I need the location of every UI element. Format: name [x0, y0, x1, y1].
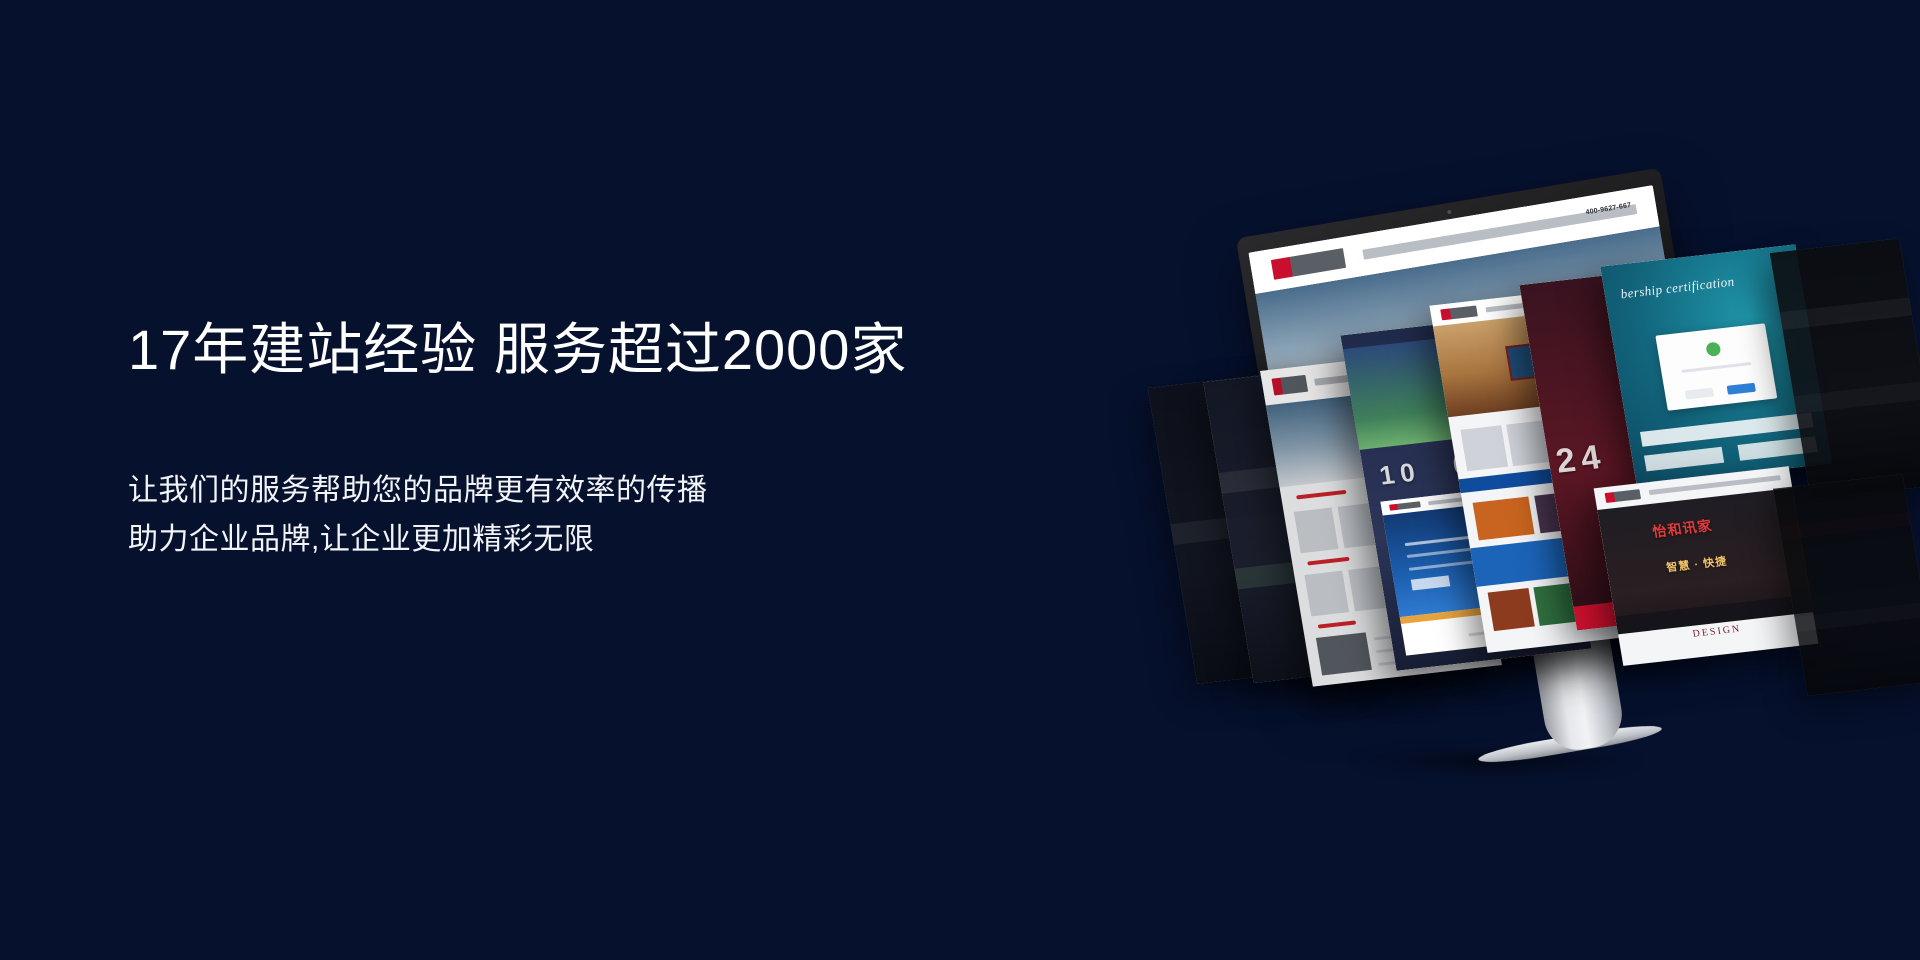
- showcase-monitor: 400-9627-667: [1190, 180, 1920, 840]
- stat-value: 24: [1553, 438, 1609, 482]
- subtitle-line-1: 让我们的服务帮助您的品牌更有效率的传播: [128, 467, 1108, 516]
- hero-subtitle: 让我们的服务帮助您的品牌更有效率的传播 助力企业品牌,让企业更加精彩无限: [128, 467, 1108, 564]
- site-logo-icon: [1270, 248, 1346, 280]
- screen-thumbnail[interactable]: [1773, 474, 1920, 696]
- hero-copy: 17年建站经验 服务超过2000家 让我们的服务帮助您的品牌更有效率的传播 助力…: [128, 318, 1108, 564]
- hero-banner: 17年建站经验 服务超过2000家 让我们的服务帮助您的品牌更有效率的传播 助力…: [0, 0, 1920, 960]
- page-title: 17年建站经验 服务超过2000家: [128, 318, 1108, 383]
- subtitle-line-2: 助力企业品牌,让企业更加精彩无限: [128, 516, 1108, 565]
- stat-value: 10: [1377, 456, 1423, 491]
